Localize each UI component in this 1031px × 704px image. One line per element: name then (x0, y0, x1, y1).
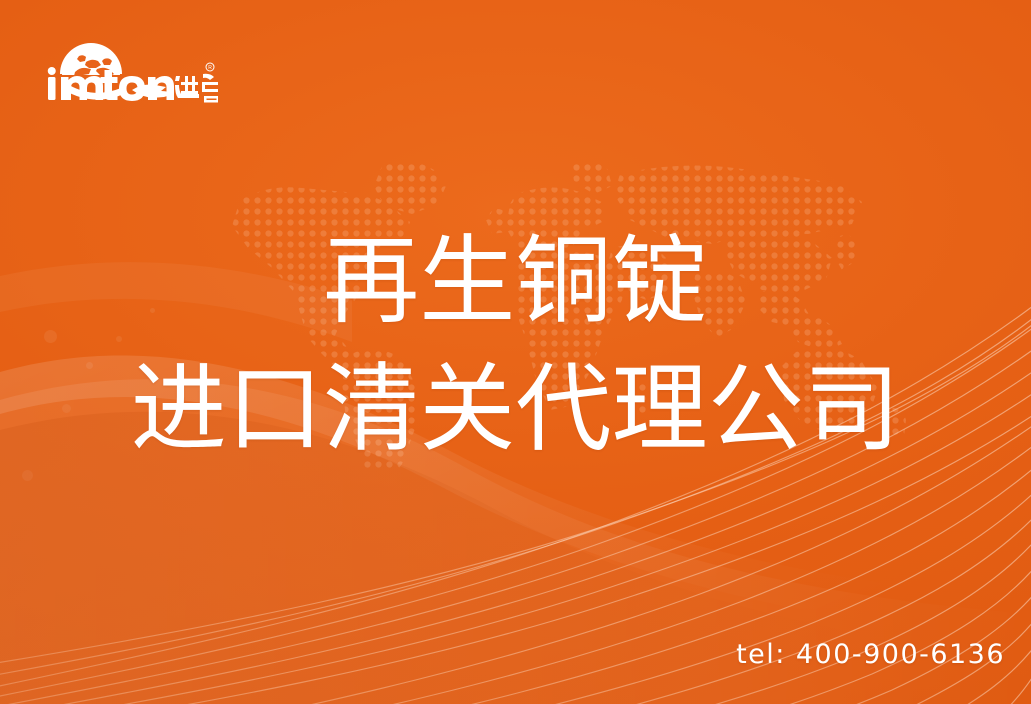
registered-trademark-icon: R (206, 63, 214, 71)
headline-line-1: 再生铜锭 (0, 228, 1031, 336)
svg-text:R: R (208, 65, 212, 71)
brand-logo[interactable]: R (38, 26, 218, 106)
promo-banner: R 再生铜锭 进口清关代理公司 tel: 400-900-6136 (0, 0, 1031, 704)
headline-line-2: 进口清关代理公司 (0, 356, 1031, 464)
telephone-text: tel: 400-900-6136 (736, 639, 1005, 670)
page-title: 再生铜锭 进口清关代理公司 (0, 228, 1031, 463)
